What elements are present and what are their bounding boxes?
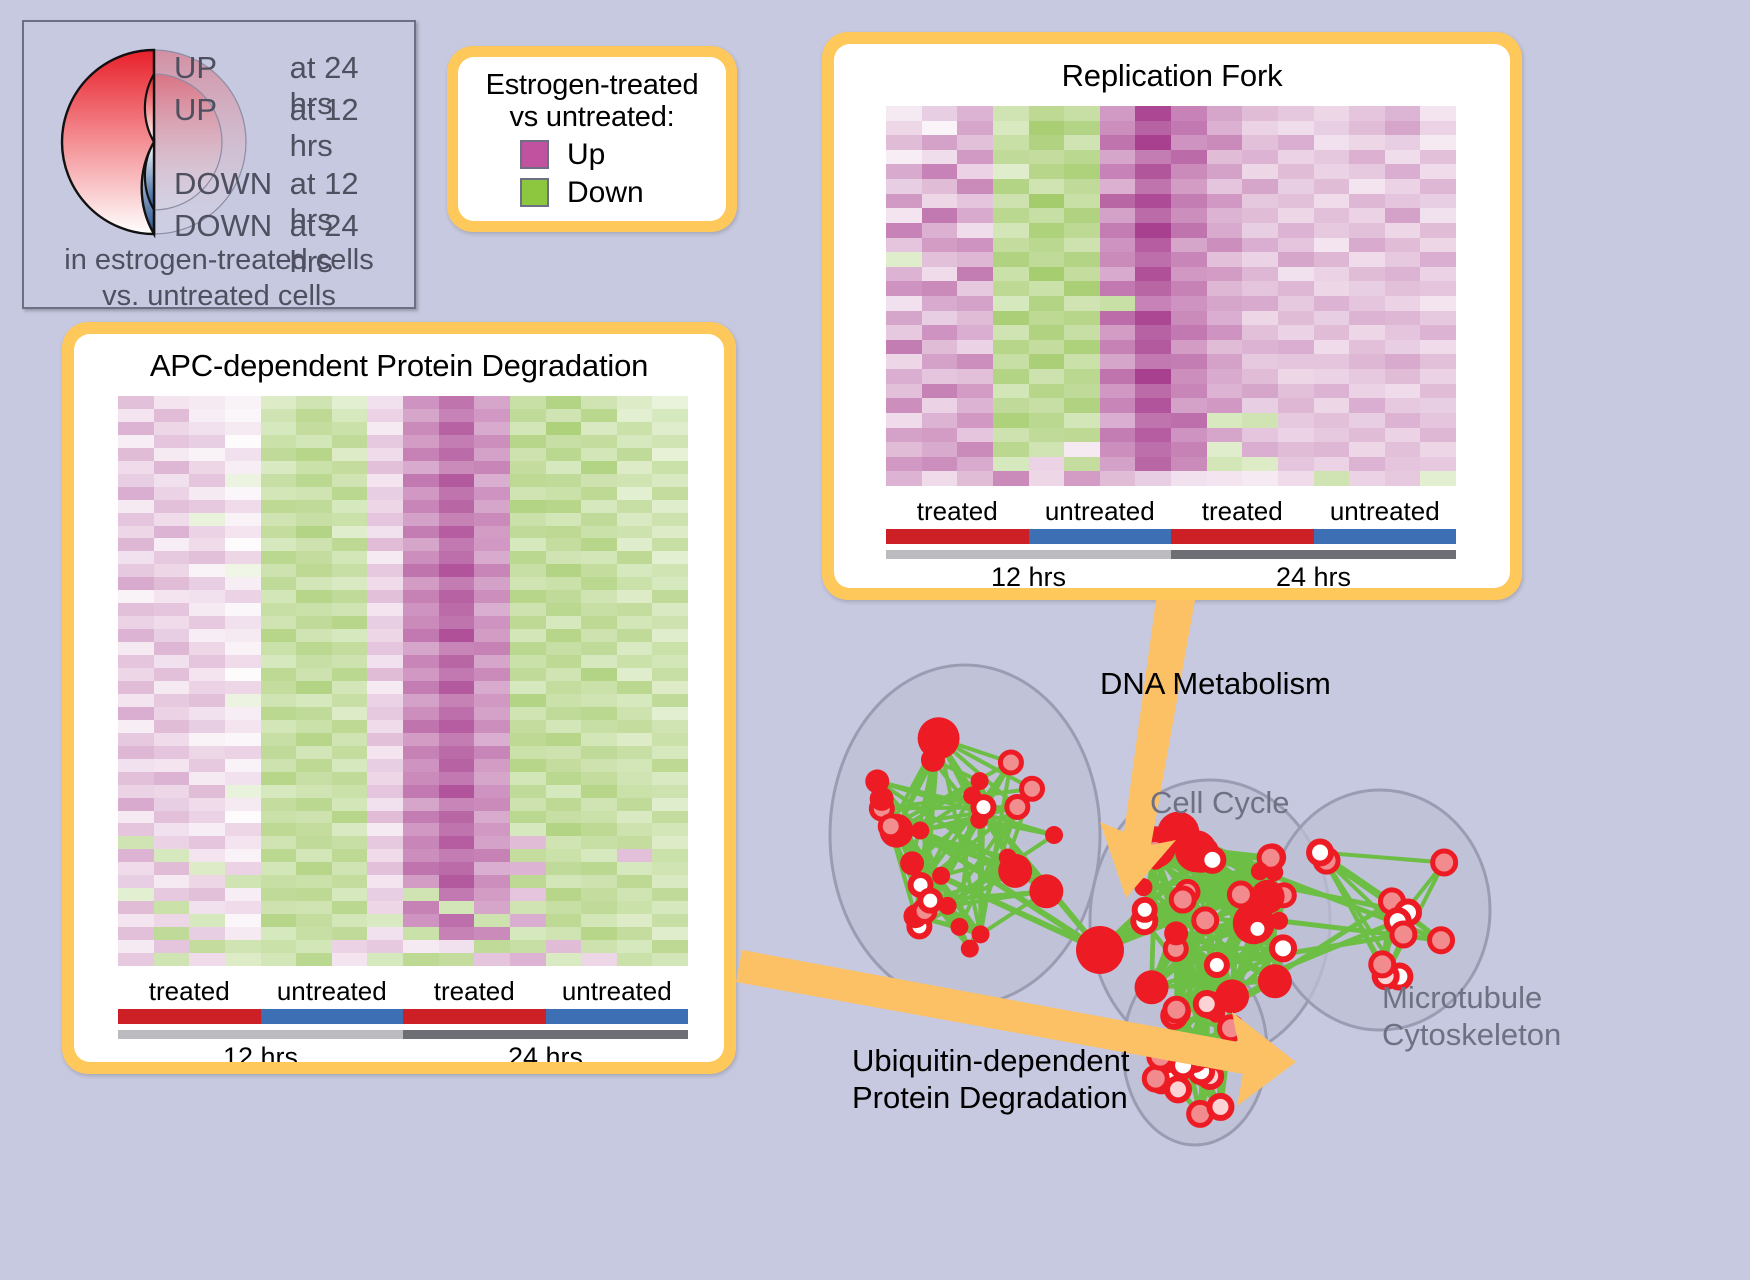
heatmap-cell [1100, 428, 1136, 443]
heatmap-cell [546, 655, 582, 668]
heatmap-cell [1207, 340, 1243, 355]
heatmap-cell [510, 513, 546, 526]
heatmap-cell [1420, 281, 1456, 296]
heatmap-cell [439, 940, 475, 953]
time-bar-segment [403, 1030, 688, 1039]
heatmap-cell [1420, 296, 1456, 311]
network-node [1165, 998, 1188, 1021]
heatmap-cell [1349, 267, 1385, 282]
heatmap-cell [296, 785, 332, 798]
heatmap-cell [1242, 354, 1278, 369]
heatmap-cell [1242, 384, 1278, 399]
heatmap-cell [296, 409, 332, 422]
heatmap-cell [474, 396, 510, 409]
heatmap-cell [1349, 325, 1385, 340]
heatmap-cell [581, 668, 617, 681]
heatmap-cell [474, 655, 510, 668]
heatmap-cell [1385, 325, 1421, 340]
heatmap-cell [1349, 252, 1385, 267]
heatmap-cell [439, 409, 475, 422]
apc-treatment-bar [118, 1009, 688, 1024]
heatmap-cell [1171, 369, 1207, 384]
heatmap-cell [1135, 238, 1171, 253]
heatmap-cell [1314, 354, 1350, 369]
heatmap-cell [474, 811, 510, 824]
heatmap-cell [1420, 369, 1456, 384]
heatmap-cell [1207, 267, 1243, 282]
heatmap-cell [332, 396, 368, 409]
heatmap-cell [1135, 179, 1171, 194]
network-node [911, 821, 929, 839]
heatmap-cell [546, 720, 582, 733]
heatmap-cell [225, 733, 261, 746]
heatmap-cell [1171, 281, 1207, 296]
heatmap-cell [957, 121, 993, 136]
heatmap-cell [332, 927, 368, 940]
heatmap-cell [474, 538, 510, 551]
heatmap-cell [617, 526, 653, 539]
heatmap-cell [957, 442, 993, 457]
heatmap-cell [957, 238, 993, 253]
heatmap-cell [332, 707, 368, 720]
heatmap-cell [617, 551, 653, 564]
heatmap-cell [261, 435, 297, 448]
heatmap-cell [546, 603, 582, 616]
heatmap-cell [546, 746, 582, 759]
heatmap-cell [403, 862, 439, 875]
heatmap-cell [652, 538, 688, 551]
heatmap-cell [1029, 398, 1065, 413]
heatmap-cell [1171, 442, 1207, 457]
heatmap-cell [225, 435, 261, 448]
heatmap-cell [1242, 135, 1278, 150]
color-key-box: UP at 24 hrs UP at 12 hrs DOWN at 12 hrs… [22, 20, 416, 309]
heatmap-cell [439, 616, 475, 629]
heatmap-cell [993, 442, 1029, 457]
heatmap-cell [1420, 223, 1456, 238]
heatmap-cell [993, 238, 1029, 253]
heatmap-cell [1135, 442, 1171, 457]
heatmap-cell [1207, 150, 1243, 165]
heatmap-cell [652, 435, 688, 448]
heatmap-cell [1029, 238, 1065, 253]
heatmap-cell [617, 953, 653, 966]
heatmap-cell [957, 179, 993, 194]
network-node [972, 925, 990, 943]
heatmap-cell [225, 681, 261, 694]
heatmap-cell [403, 526, 439, 539]
heatmap-cell [1314, 179, 1350, 194]
heatmap-cell [474, 681, 510, 694]
heatmap-cell [1314, 135, 1350, 150]
heatmap-cell [1385, 194, 1421, 209]
heatmap-cell [118, 811, 154, 824]
heatmap-cell [581, 733, 617, 746]
heatmap-cell [886, 428, 922, 443]
heatmap-cell [1100, 325, 1136, 340]
heatmap-cell [1171, 296, 1207, 311]
heatmap-cell [1420, 252, 1456, 267]
heatmap-cell [1171, 413, 1207, 428]
heatmap-cell [1314, 296, 1350, 311]
heatmap-cell [296, 448, 332, 461]
treatment-bar-segment [886, 529, 1029, 544]
network-label-microtubule-line2: Cytoskeleton [1382, 1017, 1561, 1054]
heatmap-cell [1242, 208, 1278, 223]
heatmap-cell [261, 513, 297, 526]
heatmap-cell [510, 396, 546, 409]
heatmap-cell [957, 413, 993, 428]
network-label-ubiquitin-line2: Protein Degradation [852, 1080, 1130, 1117]
heatmap-cell [1064, 252, 1100, 267]
heatmap-cell [1314, 325, 1350, 340]
network-node [1207, 955, 1227, 975]
heatmap-cell [403, 409, 439, 422]
heatmap-cell [403, 901, 439, 914]
heatmap-cell [189, 396, 225, 409]
heatmap-cell [581, 500, 617, 513]
heatmap-cell [1135, 428, 1171, 443]
heatmap-cell [1100, 457, 1136, 472]
heatmap-cell [617, 538, 653, 551]
heatmap-cell [439, 642, 475, 655]
heatmap-cell [118, 577, 154, 590]
heatmap-cell [510, 746, 546, 759]
heatmap-cell [189, 461, 225, 474]
heatmap-cell [154, 901, 190, 914]
heatmap-cell [1385, 281, 1421, 296]
heatmap-cell [332, 435, 368, 448]
heatmap-cell [886, 223, 922, 238]
heatmap-cell [1314, 413, 1350, 428]
heatmap-cell [225, 487, 261, 500]
heatmap-cell [154, 655, 190, 668]
heatmap-cell [261, 448, 297, 461]
heatmap-cell [403, 564, 439, 577]
heatmap-cell [1314, 471, 1350, 486]
heatmap-cell [261, 694, 297, 707]
replication-fork-treatment-bar [886, 529, 1456, 544]
network-node [1194, 909, 1217, 932]
heatmap-cell [922, 208, 958, 223]
heatmap-cell [1064, 457, 1100, 472]
heatmap-cell [403, 694, 439, 707]
heatmap-cell [1100, 413, 1136, 428]
heatmap-cell [332, 759, 368, 772]
heatmap-cell [581, 564, 617, 577]
heatmap-cell [189, 513, 225, 526]
heatmap-cell [957, 311, 993, 326]
heatmap-cell [1420, 238, 1456, 253]
heatmap-cell [261, 823, 297, 836]
heatmap-cell [617, 396, 653, 409]
heatmap-cell [652, 746, 688, 759]
heatmap-cell [118, 888, 154, 901]
heatmap-cell [1278, 135, 1314, 150]
heatmap-cell [1029, 296, 1065, 311]
heatmap-cell [546, 901, 582, 914]
heatmap-cell [439, 422, 475, 435]
heatmap-cell [225, 461, 261, 474]
heatmap-cell [332, 862, 368, 875]
heatmap-cell [546, 940, 582, 953]
heatmap-cell [1029, 354, 1065, 369]
heatmap-cell [474, 953, 510, 966]
heatmap-cell [617, 694, 653, 707]
heatmap-cell [367, 888, 403, 901]
heatmap-cell [154, 823, 190, 836]
heatmap-cell [225, 759, 261, 772]
heatmap-cell [617, 733, 653, 746]
network-edge [1176, 948, 1283, 949]
heatmap-cell [510, 772, 546, 785]
heatmap-cell [581, 888, 617, 901]
heatmap-cell [474, 746, 510, 759]
heatmap-cell [1242, 164, 1278, 179]
heatmap-cell [957, 281, 993, 296]
treatment-bar-segment [261, 1009, 404, 1024]
heatmap-cell [957, 457, 993, 472]
heatmap-cell [367, 720, 403, 733]
apc-axis: treateduntreatedtreateduntreated 12 hrs2… [118, 976, 688, 1062]
heatmap-cell [1135, 223, 1171, 238]
heatmap-cell [403, 422, 439, 435]
heatmap-cell [993, 413, 1029, 428]
heatmap-cell [367, 811, 403, 824]
heatmap-cell [189, 551, 225, 564]
heatmap-cell [1385, 354, 1421, 369]
heatmap-cell [189, 616, 225, 629]
heatmap-cell [474, 836, 510, 849]
heatmap-cell [1207, 135, 1243, 150]
heatmap-cell [1100, 471, 1136, 486]
heatmap-cell [581, 487, 617, 500]
heatmap-cell [225, 862, 261, 875]
heatmap-cell [439, 953, 475, 966]
heatmap-cell [1064, 296, 1100, 311]
heatmap-cell [225, 694, 261, 707]
heatmap-cell [1100, 150, 1136, 165]
heatmap-cell [154, 720, 190, 733]
heatmap-cell [474, 590, 510, 603]
heatmap-cell [403, 603, 439, 616]
heatmap-cell [403, 461, 439, 474]
heatmap-cell [474, 694, 510, 707]
heatmap-cell [474, 435, 510, 448]
heatmap-cell [957, 384, 993, 399]
heatmap-cell [1278, 428, 1314, 443]
heatmap-cell [403, 487, 439, 500]
network-node [900, 851, 924, 875]
network-node [1196, 993, 1218, 1015]
heatmap-cell [581, 798, 617, 811]
legend-swatch-up [520, 140, 549, 169]
heatmap-cell [154, 474, 190, 487]
heatmap-cell [652, 577, 688, 590]
legend-title-line1: Estrogen-treated [458, 69, 726, 101]
heatmap-cell [617, 668, 653, 681]
heatmap-cell [652, 733, 688, 746]
heatmap-cell [225, 811, 261, 824]
heatmap-cell [510, 603, 546, 616]
heatmap-cell [1135, 164, 1171, 179]
heatmap-cell [510, 629, 546, 642]
heatmap-cell [1029, 311, 1065, 326]
heatmap-cell [1385, 252, 1421, 267]
heatmap-cell [403, 448, 439, 461]
replication-fork-group-labels: treateduntreatedtreateduntreated [886, 496, 1456, 527]
heatmap-cell [439, 720, 475, 733]
heatmap-cell [439, 396, 475, 409]
heatmap-cell [296, 798, 332, 811]
heatmap-cell [474, 603, 510, 616]
heatmap-cell [1385, 384, 1421, 399]
heatmap-cell [118, 785, 154, 798]
heatmap-cell [154, 629, 190, 642]
heatmap-cell [1029, 150, 1065, 165]
heatmap-cell [118, 875, 154, 888]
network-node [1007, 796, 1028, 817]
heatmap-cell [922, 238, 958, 253]
heatmap-cell [546, 461, 582, 474]
heatmap-cell [225, 577, 261, 590]
heatmap-cell [546, 823, 582, 836]
heatmap-cell [652, 526, 688, 539]
heatmap-cell [154, 888, 190, 901]
heatmap-cell [1314, 150, 1350, 165]
heatmap-cell [332, 901, 368, 914]
figure-canvas: UP at 24 hrs UP at 12 hrs DOWN at 12 hrs… [0, 0, 1750, 1279]
heatmap-cell [261, 396, 297, 409]
heatmap-cell [189, 940, 225, 953]
heatmap-cell [118, 694, 154, 707]
heatmap-cell [1314, 106, 1350, 121]
heatmap-cell [581, 811, 617, 824]
heatmap-cell [403, 914, 439, 927]
heatmap-cell [546, 500, 582, 513]
network-node [1215, 979, 1249, 1013]
heatmap-cell [189, 785, 225, 798]
heatmap-cell [118, 733, 154, 746]
heatmap-cell [154, 577, 190, 590]
heatmap-cell [1029, 208, 1065, 223]
heatmap-cell [118, 500, 154, 513]
heatmap-cell [957, 325, 993, 340]
heatmap-cell [581, 940, 617, 953]
network-node [973, 797, 993, 817]
heatmap-cell [1100, 442, 1136, 457]
legend-swatch-down [520, 178, 549, 207]
heatmap-cell [993, 428, 1029, 443]
heatmap-cell [1385, 223, 1421, 238]
heatmap-cell [118, 759, 154, 772]
heatmap-cell [154, 513, 190, 526]
heatmap-cell [403, 681, 439, 694]
heatmap-cell [510, 461, 546, 474]
heatmap-cell [367, 396, 403, 409]
heatmap-cell [1349, 457, 1385, 472]
heatmap-cell [189, 720, 225, 733]
heatmap-cell [617, 707, 653, 720]
heatmap-cell [617, 435, 653, 448]
heatmap-cell [154, 940, 190, 953]
heatmap-cell [154, 914, 190, 927]
heatmap-cell [510, 448, 546, 461]
legend-label-up: Up [567, 138, 605, 172]
heatmap-cell [332, 798, 368, 811]
heatmap-cell [189, 422, 225, 435]
heatmap-cell [1171, 208, 1207, 223]
heatmap-cell [510, 526, 546, 539]
heatmap-cell [1385, 398, 1421, 413]
heatmap-cell [546, 811, 582, 824]
heatmap-cell [1135, 457, 1171, 472]
time-label: 12 hrs [886, 562, 1171, 588]
network-node [932, 867, 950, 885]
heatmap-cell [154, 681, 190, 694]
heatmap-cell [652, 914, 688, 927]
heatmap-cell [225, 474, 261, 487]
heatmap-cell [154, 551, 190, 564]
heatmap-cell [367, 500, 403, 513]
heatmap-cell [261, 500, 297, 513]
heatmap-cell [581, 901, 617, 914]
heatmap-cell [439, 811, 475, 824]
heatmap-cell [1314, 384, 1350, 399]
heatmap-cell [922, 457, 958, 472]
heatmap-cell [367, 759, 403, 772]
heatmap-cell [581, 849, 617, 862]
heatmap-cell [510, 435, 546, 448]
heatmap-cell [1029, 281, 1065, 296]
heatmap-cell [922, 369, 958, 384]
apc-title: APC-dependent Protein Degradation [74, 348, 724, 384]
heatmap-cell [367, 785, 403, 798]
heatmap-cell [296, 668, 332, 681]
heatmap-cell [1349, 442, 1385, 457]
heatmap-cell [957, 296, 993, 311]
heatmap-cell [652, 396, 688, 409]
heatmap-cell [1420, 354, 1456, 369]
network-node [1022, 778, 1043, 799]
heatmap-cell [510, 953, 546, 966]
heatmap-cell [1064, 179, 1100, 194]
heatmap-cell [154, 642, 190, 655]
heatmap-cell [581, 526, 617, 539]
heatmap-cell [154, 409, 190, 422]
heatmap-cell [403, 616, 439, 629]
heatmap-cell [510, 487, 546, 500]
legend-title-line2: vs untreated: [458, 101, 726, 133]
heatmap-cell [581, 422, 617, 435]
heatmap-cell [617, 901, 653, 914]
heatmap-cell [189, 862, 225, 875]
heatmap-cell [546, 875, 582, 888]
color-key-row: UP at 24 hrs [174, 50, 404, 92]
heatmap-cell [225, 538, 261, 551]
heatmap-cell [367, 526, 403, 539]
color-key-row: DOWN at 12 hrs [174, 166, 404, 208]
heatmap-cell [474, 759, 510, 772]
heatmap-cell [1349, 384, 1385, 399]
heatmap-cell [1135, 267, 1171, 282]
apc-heatmap [118, 396, 688, 966]
network-node [880, 816, 901, 837]
heatmap-cell [1420, 413, 1456, 428]
heatmap-cell [993, 384, 1029, 399]
heatmap-cell [189, 435, 225, 448]
heatmap-cell [367, 940, 403, 953]
